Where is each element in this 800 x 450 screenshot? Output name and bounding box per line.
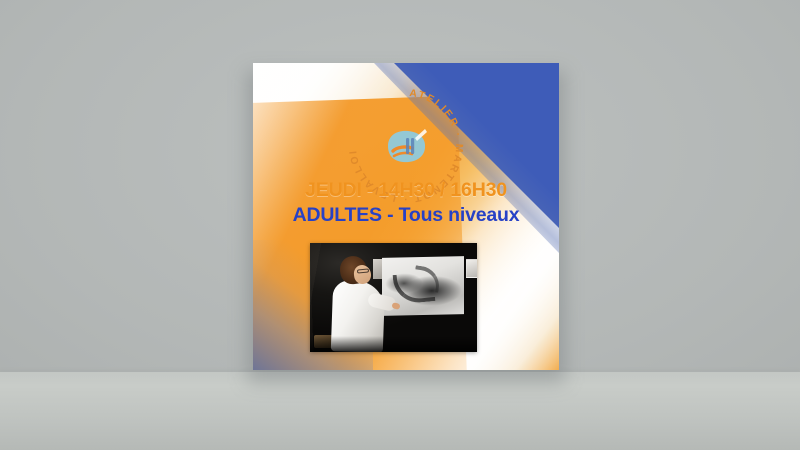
schedule-line: JEUDI - 14H30 / 16H30 <box>253 179 559 202</box>
poster-artwork: ATELIER · MARTENOT · LEVALLOIS ✳ JEUDI -… <box>253 63 559 370</box>
poster-mockup: ATELIER · MARTENOT · LEVALLOIS ✳ JEUDI -… <box>253 63 559 370</box>
audience-line: ADULTES - Tous niveaux <box>253 204 559 227</box>
headline-block: JEUDI - 14H30 / 16H30 ADULTES - Tous niv… <box>253 179 559 227</box>
paintbrush-blob-icon <box>381 126 431 166</box>
workshop-photo <box>310 243 477 352</box>
studio-floor <box>0 372 800 450</box>
photo-bottom-vignette <box>310 336 477 352</box>
photo-pinned-paper-right <box>466 259 477 278</box>
